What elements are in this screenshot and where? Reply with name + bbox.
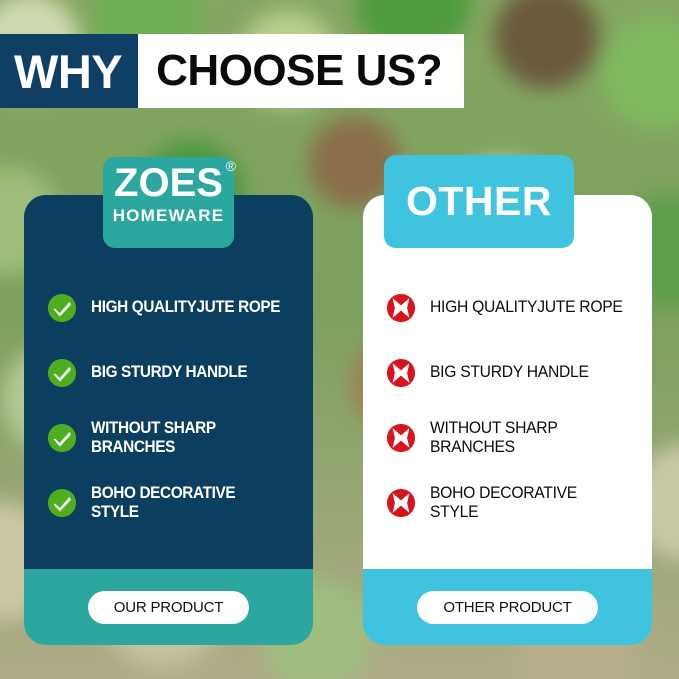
x-circle-icon bbox=[386, 423, 416, 453]
title-highlight-word: WHY bbox=[0, 34, 138, 108]
x-circle-icon bbox=[386, 293, 416, 323]
list-item: HIGH QUALITYJUTE ROPE bbox=[386, 275, 636, 340]
our-product-footer: OUR PRODUCT bbox=[24, 569, 313, 645]
brand-name: ZOES ® bbox=[114, 161, 223, 205]
list-item: WITHOUT SHARP BRANCHES bbox=[47, 405, 297, 470]
other-product-card: OTHER HIGH QUALITYJUTE ROPE bbox=[363, 195, 652, 645]
list-item: BIG STURDY HANDLE bbox=[386, 340, 636, 405]
other-product-footer: OTHER PRODUCT bbox=[363, 569, 652, 645]
list-item: BOHO DECORATIVE STYLE bbox=[386, 470, 636, 535]
other-brand-badge: OTHER bbox=[384, 155, 574, 248]
check-circle-icon bbox=[47, 423, 77, 453]
brand-subtitle: HOMEWARE bbox=[103, 205, 234, 227]
brand-name-text: ZOES bbox=[114, 161, 223, 205]
other-product-feature-list: HIGH QUALITYJUTE ROPE BIG STURDY HANDLE bbox=[363, 275, 652, 535]
other-product-button[interactable]: OTHER PRODUCT bbox=[417, 591, 597, 624]
our-product-feature-list: HIGH QUALITYJUTE ROPE BIG STURDY HANDLE bbox=[24, 275, 313, 535]
feature-label: BIG STURDY HANDLE bbox=[430, 363, 589, 381]
list-item: BIG STURDY HANDLE bbox=[47, 340, 297, 405]
comparison-infographic: WHY CHOOSE US? ZOES ® HOMEWARE HIGH QUAL… bbox=[0, 0, 679, 679]
registered-trademark-icon: ® bbox=[226, 159, 236, 173]
list-item: BOHO DECORATIVE STYLE bbox=[47, 470, 297, 535]
feature-label: BOHO DECORATIVE STYLE bbox=[91, 484, 283, 520]
feature-label: BIG STURDY HANDLE bbox=[91, 363, 247, 381]
zoes-brand-badge: ZOES ® HOMEWARE bbox=[103, 157, 234, 248]
title-rest-text: CHOOSE US? bbox=[138, 34, 464, 108]
x-circle-icon bbox=[386, 488, 416, 518]
our-product-card: ZOES ® HOMEWARE HIGH QUALITYJUTE ROPE bbox=[24, 195, 313, 645]
list-item: WITHOUT SHARP BRANCHES bbox=[386, 405, 636, 470]
page-title: WHY CHOOSE US? bbox=[0, 34, 464, 108]
x-circle-icon bbox=[386, 358, 416, 388]
check-circle-icon bbox=[47, 293, 77, 323]
feature-label: BOHO DECORATIVE STYLE bbox=[430, 484, 626, 520]
feature-label: WITHOUT SHARP BRANCHES bbox=[91, 419, 283, 455]
check-circle-icon bbox=[47, 488, 77, 518]
check-circle-icon bbox=[47, 358, 77, 388]
feature-label: WITHOUT SHARP BRANCHES bbox=[430, 419, 626, 455]
other-badge-label: OTHER bbox=[406, 181, 552, 222]
feature-label: HIGH QUALITYJUTE ROPE bbox=[91, 298, 280, 316]
list-item: HIGH QUALITYJUTE ROPE bbox=[47, 275, 297, 340]
feature-label: HIGH QUALITYJUTE ROPE bbox=[430, 298, 623, 316]
our-product-button[interactable]: OUR PRODUCT bbox=[88, 591, 249, 624]
